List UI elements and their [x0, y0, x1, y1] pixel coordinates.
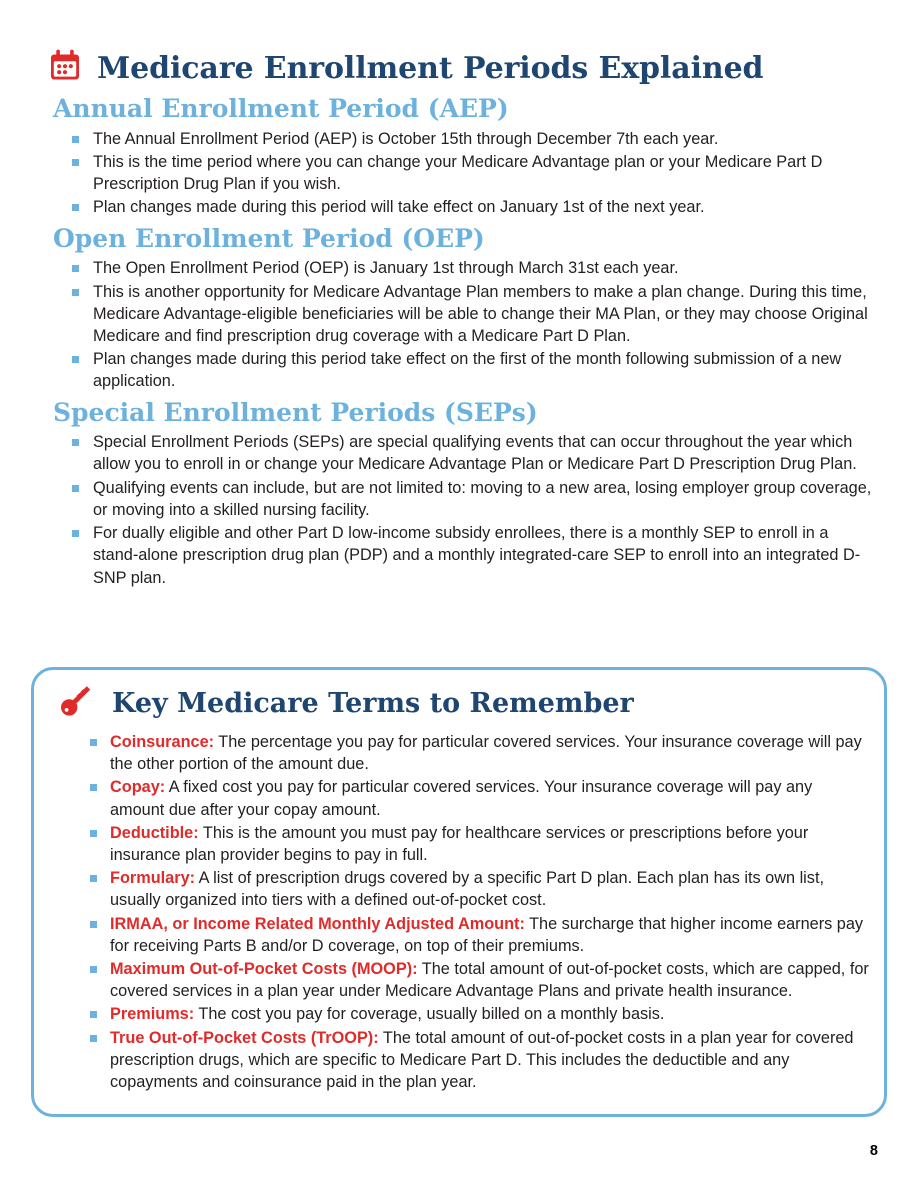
- list-item: IRMAA, or Income Related Monthly Adjuste…: [88, 913, 870, 957]
- list-item: Deductible: This is the amount you must …: [88, 822, 870, 866]
- term-label: Premiums:: [110, 1005, 194, 1023]
- page-title: Medicare Enrollment Periods Explained: [97, 52, 763, 85]
- calendar-icon: [47, 48, 83, 89]
- list-item: Premiums: The cost you pay for coverage,…: [88, 1003, 870, 1025]
- section-seps: Special Enrollment Periods (SEPs) Specia…: [47, 399, 875, 589]
- list-item: Formulary: A list of prescription drugs …: [88, 867, 870, 911]
- term-label: True Out-of-Pocket Costs (TrOOP):: [110, 1029, 379, 1047]
- list-item: Coinsurance: The percentage you pay for …: [88, 731, 870, 775]
- term-definition: The percentage you pay for particular co…: [110, 733, 862, 773]
- key-terms-box: Key Medicare Terms to Remember Coinsuran…: [31, 667, 887, 1117]
- key-terms-title: Key Medicare Terms to Remember: [112, 689, 634, 719]
- bullet-list-seps: Special Enrollment Periods (SEPs) are sp…: [47, 431, 875, 588]
- term-definition: This is the amount you must pay for heal…: [110, 824, 808, 864]
- section-oep: Open Enrollment Period (OEP) The Open En…: [47, 225, 875, 393]
- list-item: The Annual Enrollment Period (AEP) is Oc…: [69, 128, 875, 150]
- list-item: This is another opportunity for Medicare…: [69, 281, 875, 348]
- key-terms-list: Coinsurance: The percentage you pay for …: [34, 731, 884, 1093]
- term-label: Formulary:: [110, 869, 195, 887]
- page-number: 8: [870, 1143, 878, 1159]
- term-label: Coinsurance:: [110, 733, 214, 751]
- list-item: True Out-of-Pocket Costs (TrOOP): The to…: [88, 1027, 870, 1094]
- bullet-list-aep: The Annual Enrollment Period (AEP) is Oc…: [47, 128, 875, 219]
- enrollment-periods-section: Medicare Enrollment Periods Explained An…: [47, 48, 875, 590]
- list-item: The Open Enrollment Period (OEP) is Janu…: [69, 257, 875, 279]
- term-definition: A fixed cost you pay for particular cove…: [110, 778, 812, 818]
- term-definition: A list of prescription drugs covered by …: [110, 869, 824, 909]
- term-definition: The cost you pay for coverage, usually b…: [194, 1005, 664, 1023]
- list-item: Plan changes made during this period tak…: [69, 348, 875, 392]
- section-heading-oep: Open Enrollment Period (OEP): [53, 225, 875, 254]
- term-label: Maximum Out-of-Pocket Costs (MOOP):: [110, 960, 418, 978]
- key-icon: [56, 684, 94, 723]
- list-item: This is the time period where you can ch…: [69, 151, 875, 195]
- list-item: Maximum Out-of-Pocket Costs (MOOP): The …: [88, 958, 870, 1002]
- document-page: Medicare Enrollment Periods Explained An…: [0, 0, 918, 1188]
- list-item: Special Enrollment Periods (SEPs) are sp…: [69, 431, 875, 475]
- list-item: For dually eligible and other Part D low…: [69, 522, 875, 589]
- term-label: IRMAA, or Income Related Monthly Adjuste…: [110, 915, 525, 933]
- list-item: Copay: A fixed cost you pay for particul…: [88, 776, 870, 820]
- term-label: Deductible:: [110, 824, 199, 842]
- section-heading-aep: Annual Enrollment Period (AEP): [53, 95, 875, 124]
- bullet-list-oep: The Open Enrollment Period (OEP) is Janu…: [47, 257, 875, 392]
- key-terms-title-row: Key Medicare Terms to Remember: [34, 670, 884, 723]
- page-title-row: Medicare Enrollment Periods Explained: [47, 48, 875, 89]
- term-label: Copay:: [110, 778, 165, 796]
- section-aep: Annual Enrollment Period (AEP) The Annua…: [47, 95, 875, 219]
- list-item: Qualifying events can include, but are n…: [69, 477, 875, 521]
- section-heading-seps: Special Enrollment Periods (SEPs): [53, 399, 875, 428]
- list-item: Plan changes made during this period wil…: [69, 196, 875, 218]
